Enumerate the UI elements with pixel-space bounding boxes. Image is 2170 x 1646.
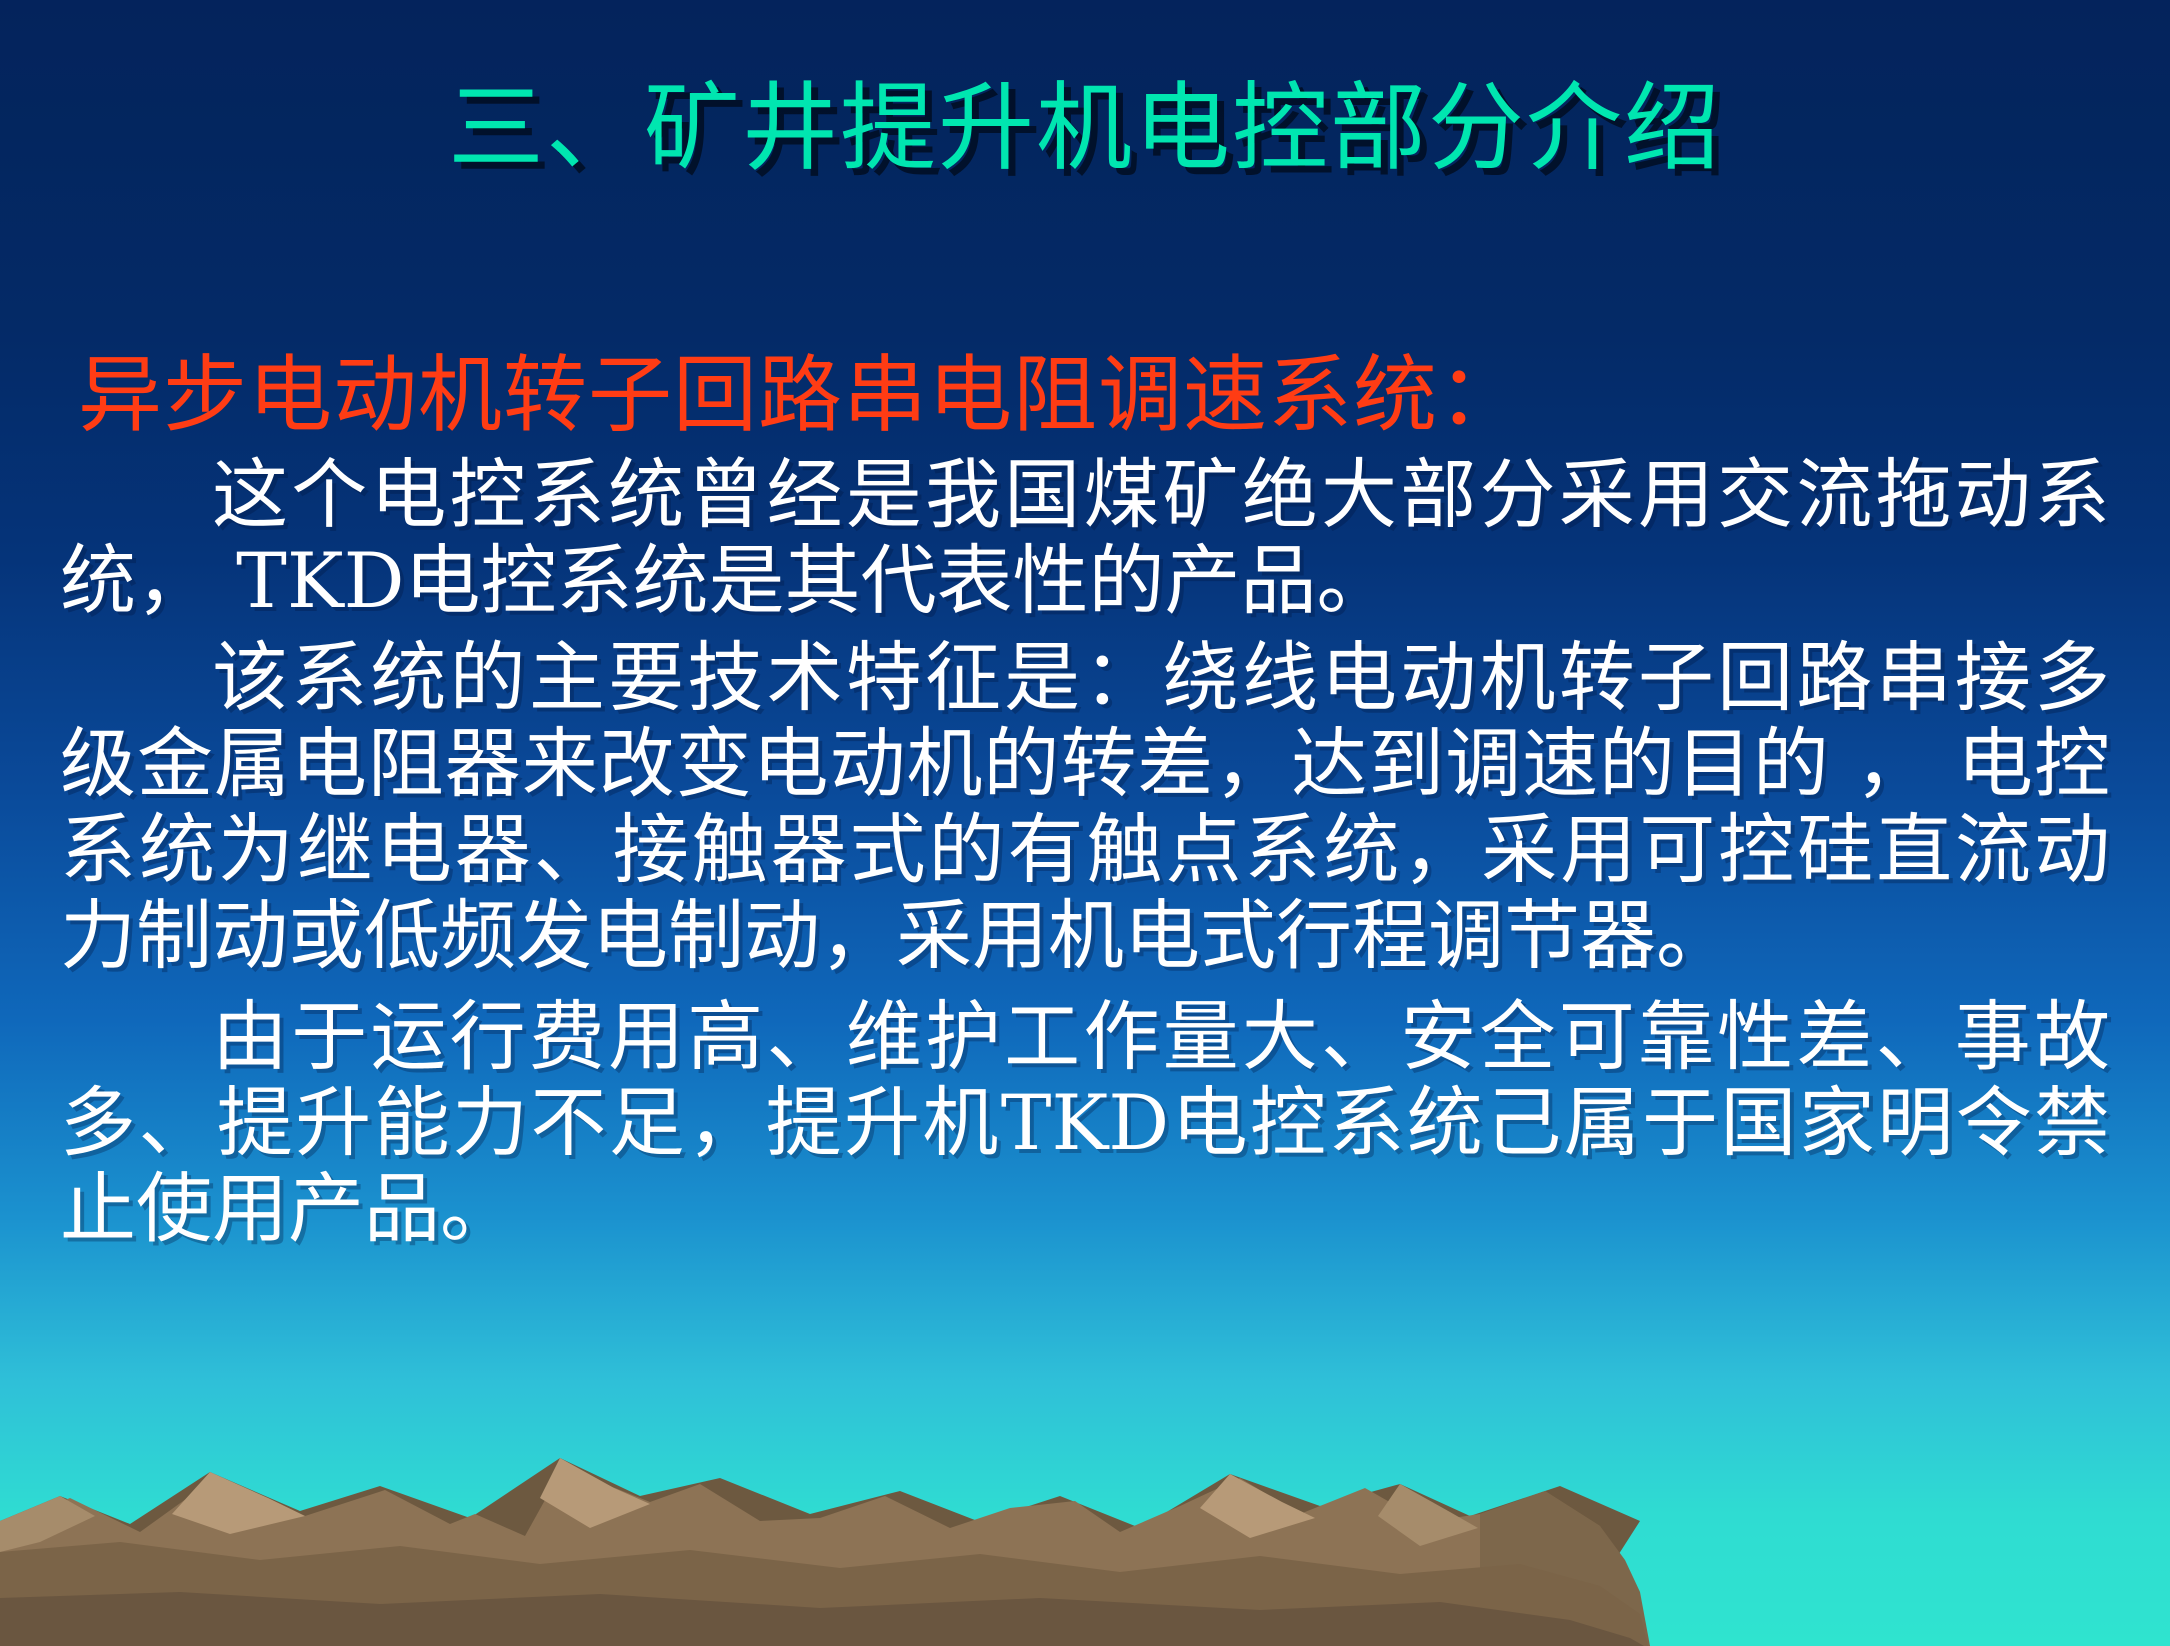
body-paragraph-1: 这个电控系统曾经是我国煤矿绝大部分采用交流拖动系统， TKD电控系统是其代表性的… xyxy=(60,452,2110,625)
body-paragraph-3: 由于运行费用高、维护工作量大、安全可靠性差、事故多、提升能力不足，提升机TKD电… xyxy=(60,994,2110,1253)
body-paragraph-2: 该系统的主要技术特征是：绕线电动机转子回路串接多级金属电阻器来改变电动机的转差，… xyxy=(60,635,2110,980)
slide-subtitle: 异步电动机转子回路串电阻调速系统： xyxy=(78,348,2110,442)
presentation-slide: 三、矿井提升机电控部分介绍 异步电动机转子回路串电阻调速系统： 这个电控系统曾经… xyxy=(0,0,2170,1646)
slide-title: 三、矿井提升机电控部分介绍 xyxy=(0,78,2170,179)
mountain-range-icon xyxy=(0,1346,2170,1646)
slide-body: 异步电动机转子回路串电阻调速系统： 这个电控系统曾经是我国煤矿绝大部分采用交流拖… xyxy=(60,348,2110,1256)
